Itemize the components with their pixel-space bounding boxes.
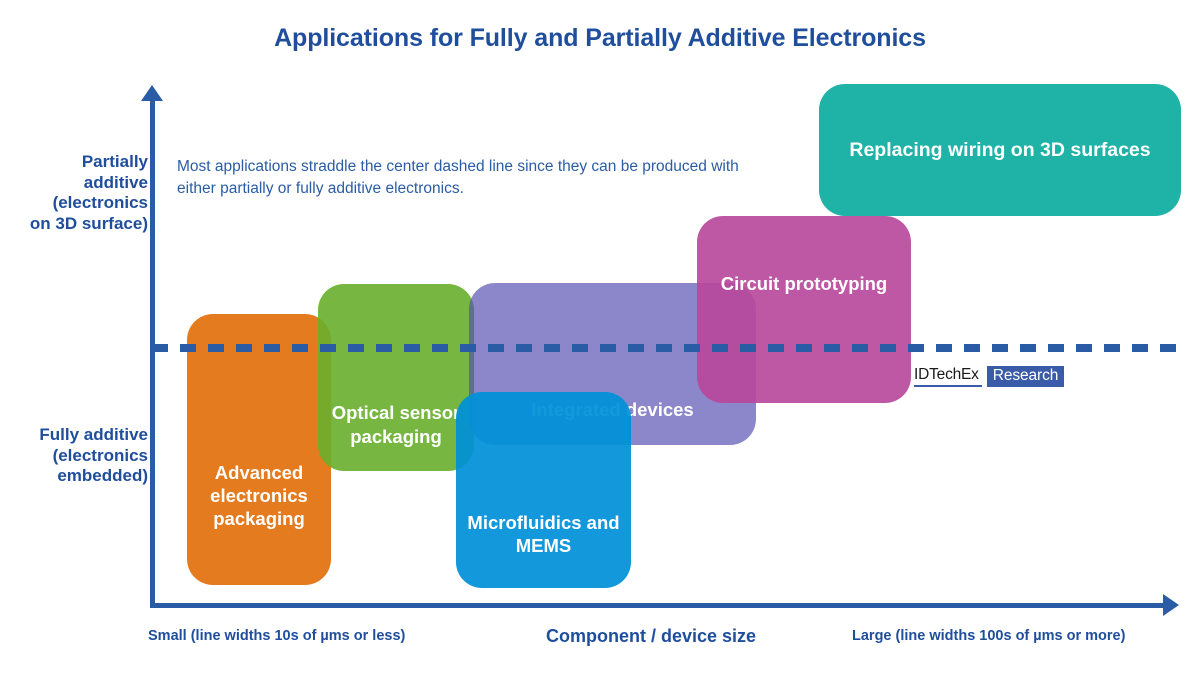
y-axis-label-partially-additive: Partially additive (electronics on 3D su… bbox=[28, 152, 148, 235]
center-dashed-divider bbox=[152, 344, 1182, 352]
app-box-circuit-prototyping[interactable]: Circuit prototyping bbox=[697, 216, 911, 403]
x-axis-line bbox=[150, 603, 1166, 608]
app-box-label: Optical sensor packaging bbox=[326, 401, 466, 448]
app-box-optical-sensor-packaging[interactable]: Optical sensor packaging bbox=[318, 284, 474, 471]
x-axis-arrow-icon bbox=[1163, 594, 1179, 616]
y-axis-arrow-icon bbox=[141, 85, 163, 101]
page-title: Applications for Fully and Partially Add… bbox=[0, 24, 1200, 53]
chart-canvas: Applications for Fully and Partially Add… bbox=[0, 0, 1200, 675]
annotation-note: Most applications straddle the center da… bbox=[177, 156, 762, 201]
y-axis-label-fully-additive: Fully additive (electronics embedded) bbox=[28, 425, 148, 487]
logo-product-badge: Research bbox=[987, 366, 1065, 387]
app-box-microfluidics-and-mems[interactable]: Microfluidics and MEMS bbox=[456, 392, 631, 588]
x-axis-title: Component / device size bbox=[546, 626, 756, 647]
app-box-label: Replacing wiring on 3D surfaces bbox=[849, 138, 1150, 163]
app-box-label: Circuit prototyping bbox=[721, 272, 887, 295]
app-box-advanced-electronics-packaging[interactable]: Advanced electronics packaging bbox=[187, 314, 331, 585]
app-box-label: Advanced electronics packaging bbox=[195, 461, 323, 531]
x-axis-label-small: Small (line widths 10s of µms or less) bbox=[148, 628, 405, 644]
app-box-label: Microfluidics and MEMS bbox=[464, 511, 623, 558]
app-box-replacing-wiring-on-3d-surfaces[interactable]: Replacing wiring on 3D surfaces bbox=[819, 84, 1181, 216]
idtechex-research-logo: IDTechEx Research bbox=[914, 366, 1064, 387]
x-axis-label-large: Large (line widths 100s of µms or more) bbox=[852, 628, 1125, 644]
logo-brand-name: IDTechEx bbox=[914, 366, 982, 387]
